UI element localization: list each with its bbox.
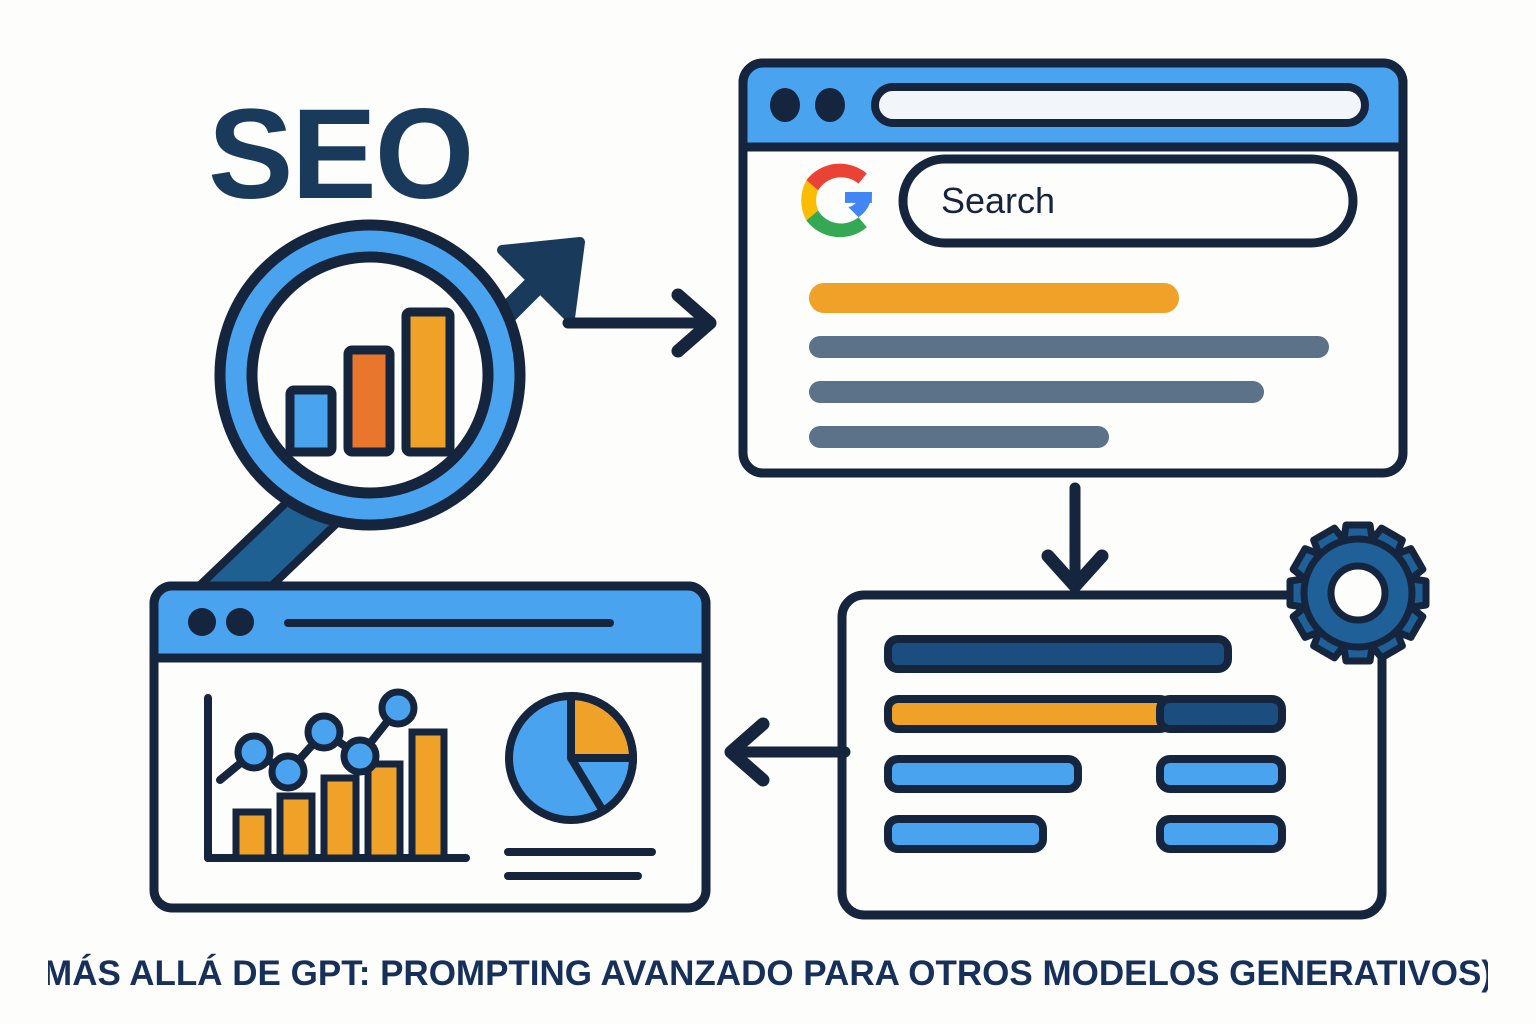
- arrow-left-analytics: [715, 712, 875, 792]
- figure-caption-text: MÁS ALLÁ DE GPT: PROMPTING AVANZADO PARA…: [48, 953, 1488, 993]
- config-row-highlight[interactable]: [888, 699, 1170, 729]
- result-ad-bar[interactable]: [809, 283, 1179, 313]
- analytics-dashboard-window[interactable]: [148, 580, 718, 920]
- config-row-title[interactable]: [888, 639, 1228, 669]
- window-dot-1[interactable]: [188, 608, 216, 636]
- arrow-right-search: [560, 283, 740, 363]
- result-line-3[interactable]: [809, 426, 1109, 448]
- config-row-left-1[interactable]: [888, 759, 1078, 789]
- config-row-right-3[interactable]: [1160, 819, 1282, 849]
- config-row-left-2[interactable]: [888, 819, 1043, 849]
- search-input-value: Search: [941, 180, 1055, 221]
- window-dot-1[interactable]: [770, 88, 800, 122]
- infographic-canvas: SEO: [0, 0, 1536, 1024]
- window-dot-2[interactable]: [226, 608, 254, 636]
- seo-wordmark: SEO: [208, 83, 472, 226]
- google-search-window[interactable]: Search: [735, 55, 1415, 485]
- result-line-1[interactable]: [809, 336, 1329, 358]
- config-row-right-2[interactable]: [1160, 759, 1282, 789]
- result-line-2[interactable]: [809, 381, 1264, 403]
- configuration-panel[interactable]: [830, 505, 1450, 925]
- window-dot-2[interactable]: [815, 88, 845, 122]
- url-bar[interactable]: [875, 87, 1365, 123]
- config-row-right-1[interactable]: [1160, 699, 1282, 729]
- figure-caption: MÁS ALLÁ DE GPT: PROMPTING AVANZADO PARA…: [48, 940, 1488, 1010]
- analytics-pie-chart: [509, 696, 633, 820]
